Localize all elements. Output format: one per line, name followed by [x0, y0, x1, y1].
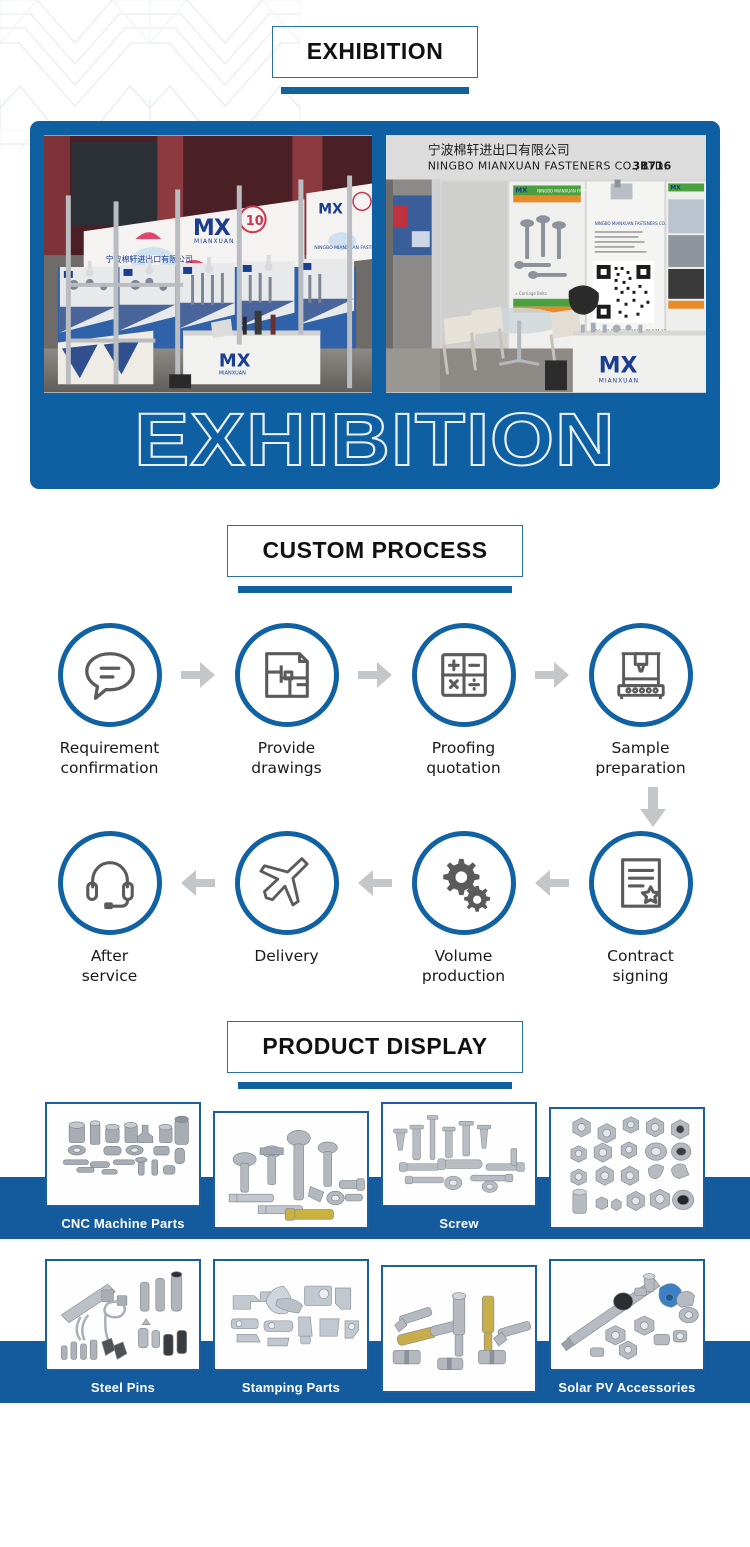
process-arrow-right-2 — [350, 623, 400, 727]
process-step-contract-signing[interactable]: Contract signing — [577, 831, 704, 987]
product-card-label: Stainless Nut — [585, 1229, 670, 1253]
process-step-label: Delivery — [254, 946, 318, 966]
arrow-left-icon — [181, 870, 215, 896]
svg-text:3B716: 3B716 — [632, 160, 671, 173]
product-card-stamping-parts[interactable]: Stamping Parts — [213, 1259, 369, 1395]
process-step-circle — [412, 623, 516, 727]
svg-text:» Carriage Bolts: » Carriage Bolts — [515, 291, 547, 296]
cnc-machine-parts-photo — [45, 1102, 201, 1207]
product-card-bolt[interactable]: Bolt — [213, 1111, 369, 1253]
process-step-circle — [58, 831, 162, 935]
arrow-left-icon — [535, 870, 569, 896]
product-row-2: Steel Pins — [0, 1281, 750, 1417]
process-arrow-down-wrap — [0, 787, 750, 827]
screw-photo — [381, 1102, 537, 1207]
exhibition-heading-block: EXHIBITION — [0, 26, 750, 94]
custom-process-section: CUSTOM PROCESS Requirement confirmation — [0, 525, 750, 987]
process-step-proofing-quotation[interactable]: Proofing quotation — [400, 623, 527, 779]
arrow-down-icon — [640, 787, 666, 827]
exhibition-booth-photo-1[interactable]: MX MIANXUAN 10 宁波棉轩进出口有限公司 NINGBO MIANXU… — [44, 135, 372, 393]
process-step-label: Provide drawings — [251, 738, 321, 779]
process-step-circle — [58, 623, 162, 727]
calculator-icon — [435, 646, 493, 704]
svg-text:MX: MX — [318, 201, 343, 217]
process-step-requirement-confirmation[interactable]: Requirement confirmation — [46, 623, 173, 779]
product-card-label: Anchor — [436, 1393, 483, 1417]
process-step-label: After service — [82, 946, 138, 987]
svg-text:10: 10 — [246, 214, 264, 229]
speech-bubble-icon — [81, 646, 139, 704]
product-display-section: PRODUCT DISPLAY — [0, 1021, 750, 1403]
process-step-volume-production[interactable]: Volume production — [400, 831, 527, 987]
arrow-right-icon — [358, 662, 392, 688]
product-card-label: Stamping Parts — [242, 1371, 340, 1395]
process-arrow-left-3 — [527, 831, 577, 935]
product-card-label: Bolt — [278, 1229, 304, 1253]
product-row-1-block: CNC Machine Parts — [0, 1111, 750, 1239]
cnc-machine-icon — [612, 646, 670, 704]
svg-text:MIANXUAN: MIANXUAN — [219, 370, 246, 376]
svg-text:宁波棉轩进出口有限公司: 宁波棉轩进出口有限公司 — [428, 143, 570, 159]
process-row-2: After service Delivery — [0, 831, 750, 987]
headset-icon — [81, 854, 139, 912]
svg-text:MX: MX — [515, 186, 528, 194]
stainless-nut-photo — [549, 1107, 705, 1229]
exhibition-heading-rule — [281, 87, 469, 94]
process-step-circle — [589, 831, 693, 935]
process-step-label: Requirement confirmation — [60, 738, 160, 779]
product-display-heading-block: PRODUCT DISPLAY — [0, 1021, 750, 1089]
process-step-label: Contract signing — [607, 946, 674, 987]
bolt-photo — [213, 1111, 369, 1229]
arrow-right-icon — [181, 662, 215, 688]
exhibition-wordmark: EXHIBITION — [8, 393, 743, 479]
stamping-parts-photo — [213, 1259, 369, 1371]
custom-process-heading-text: CUSTOM PROCESS — [262, 537, 487, 564]
process-arrow-left-2 — [350, 831, 400, 935]
product-card-cnc-machine-parts[interactable]: CNC Machine Parts — [45, 1102, 201, 1231]
exhibition-booth-photo-2[interactable]: 宁波棉轩进出口有限公司 NINGBO MIANXUAN FASTENERS CO… — [386, 135, 706, 393]
svg-text:MIANXUAN: MIANXUAN — [194, 238, 234, 245]
product-card-label: Screw — [439, 1207, 478, 1231]
product-card-steel-pins[interactable]: Steel Pins — [45, 1259, 201, 1395]
product-card-label: CNC Machine Parts — [61, 1207, 184, 1231]
process-step-circle — [235, 623, 339, 727]
product-card-screw[interactable]: Screw — [381, 1102, 537, 1231]
process-step-provide-drawings[interactable]: Provide drawings — [223, 623, 350, 779]
product-row-2-block: Steel Pins — [0, 1267, 750, 1403]
gears-icon — [435, 854, 493, 912]
process-step-label: Proofing quotation — [426, 738, 500, 779]
svg-text:NINGBO MIANXUAN FASTENERS CO.,: NINGBO MIANXUAN FASTENERS CO.,LTD — [595, 221, 675, 226]
process-step-circle — [589, 623, 693, 727]
svg-text:MX: MX — [219, 350, 251, 371]
certificate-document-icon — [612, 854, 670, 912]
arrow-right-icon — [535, 662, 569, 688]
process-step-label: Volume production — [422, 946, 505, 987]
process-step-circle — [235, 831, 339, 935]
arrow-left-icon — [358, 870, 392, 896]
process-step-label: Sample preparation — [595, 738, 685, 779]
solar-pv-accessories-photo — [549, 1259, 705, 1371]
process-step-sample-preparation[interactable]: Sample preparation — [577, 623, 704, 779]
process-arrow-left-1 — [173, 831, 223, 935]
process-step-circle — [412, 831, 516, 935]
process-arrow-right-1 — [173, 623, 223, 727]
anchor-photo — [381, 1265, 537, 1393]
blueprint-drawing-icon — [258, 646, 316, 704]
product-card-solar-pv-accessories[interactable]: Solar PV Accessories — [549, 1259, 705, 1395]
custom-process-heading-box: CUSTOM PROCESS — [227, 525, 522, 577]
product-row-1: CNC Machine Parts — [0, 1125, 750, 1253]
svg-text:MX: MX — [670, 184, 681, 191]
svg-text:MX: MX — [599, 353, 638, 378]
exhibition-heading-box: EXHIBITION — [272, 26, 479, 78]
exhibition-photo-row: MX MIANXUAN 10 宁波棉轩进出口有限公司 NINGBO MIANXU… — [44, 135, 706, 393]
product-card-stainless-nut[interactable]: Stainless Nut — [549, 1107, 705, 1253]
exhibition-photo-panel: MX MIANXUAN 10 宁波棉轩进出口有限公司 NINGBO MIANXU… — [30, 121, 720, 489]
process-arrow-right-3 — [527, 623, 577, 727]
svg-text:MIANXUAN: MIANXUAN — [599, 377, 639, 384]
custom-process-heading-rule — [238, 586, 512, 593]
product-card-label: Solar PV Accessories — [558, 1371, 695, 1395]
page-root: EXHIBITION — [0, 0, 750, 1403]
product-display-heading-text: PRODUCT DISPLAY — [262, 1033, 487, 1060]
product-display-heading-box: PRODUCT DISPLAY — [227, 1021, 522, 1073]
product-card-label: Steel Pins — [91, 1371, 155, 1395]
process-row-1: Requirement confirmation Pro — [0, 623, 750, 779]
product-card-anchor[interactable]: Anchor — [381, 1265, 537, 1417]
svg-text:NINGBO MIANXUAN FASTENERS CO.,: NINGBO MIANXUAN FASTENERS CO., LTD. — [314, 245, 372, 251]
exhibition-section: EXHIBITION — [0, 0, 750, 489]
custom-process-heading-block: CUSTOM PROCESS — [0, 525, 750, 593]
product-display-heading-rule — [238, 1082, 512, 1089]
process-step-after-service[interactable]: After service — [46, 831, 173, 987]
exhibition-heading-text: EXHIBITION — [307, 38, 444, 65]
process-step-delivery[interactable]: Delivery — [223, 831, 350, 966]
airplane-icon — [258, 854, 316, 912]
steel-pins-photo — [45, 1259, 201, 1371]
